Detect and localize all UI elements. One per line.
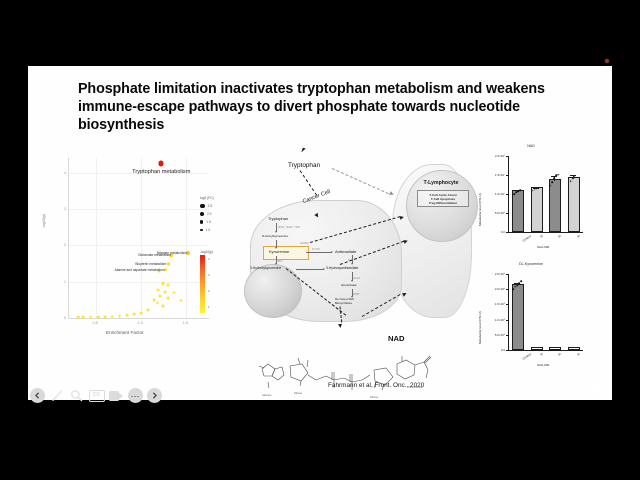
scatter-gridline [69, 282, 209, 283]
bar-y-tick: 2.0×10⁶ [484, 287, 505, 291]
enzyme-ido-tdo: IDO1, IDO2, TDO [278, 225, 300, 229]
video-camera-icon[interactable] [109, 391, 123, 401]
scatter-y-tick: 1 [64, 280, 66, 284]
pathway-arrowhead [351, 263, 353, 265]
back-button[interactable] [30, 388, 45, 403]
bar-category-label: Control [522, 234, 532, 243]
presentation-slide: Phosphate limitation inactivates tryptop… [28, 66, 612, 400]
data-point [552, 181, 554, 183]
forward-button[interactable] [147, 388, 162, 403]
bar-y-axis-label: Metabolite level (PSI.U) [478, 312, 482, 345]
scatter-y-tick: 2 [64, 243, 66, 247]
scatter-point [111, 315, 114, 318]
bar-category-label: Pi [576, 234, 580, 239]
data-point [519, 189, 521, 191]
tryptophan-depletion-arrow [332, 168, 389, 194]
data-point [516, 285, 518, 287]
scatter-color-legend: -log10(p) 4321 [200, 250, 217, 313]
screenshot-root: Phosphate limitation inactivates tryptop… [0, 0, 640, 480]
scatter-point [172, 291, 175, 294]
label-phosphates: Phosphates [324, 399, 338, 400]
data-point [574, 176, 576, 178]
color-legend-title: -log10(p) [200, 250, 217, 254]
pathway-arrowhead [351, 296, 353, 298]
highlighted-pathway-label: Tryptophan metabolism [132, 169, 190, 175]
size-legend-dot [200, 229, 203, 232]
scatter-point [77, 316, 80, 319]
scatter-y-tick: 4 [64, 171, 66, 175]
scatter-point [156, 288, 159, 291]
bar-group-label: SAU-600 [537, 245, 549, 249]
effect-treg: Treg Differentiation [419, 201, 467, 205]
scatter-point [167, 297, 170, 300]
color-legend-ticks: 4321 [207, 255, 217, 313]
scatter-plot-area [68, 158, 209, 319]
data-point [513, 288, 515, 290]
t-lymphocyte-effects-box: T-Cell Cycle Arrest T-Cell Apoptosis Tre… [417, 190, 469, 207]
recording-indicator-dot [605, 59, 609, 63]
bar-y-tickmark [506, 350, 508, 351]
bar-category-label: Pi [539, 234, 543, 239]
bar-y-tick: 1.5×10⁶ [484, 302, 505, 306]
slide-citation: Fahrmann et al, Front. Onc., 2020 [328, 382, 424, 389]
bar-y-tickmark [506, 304, 508, 305]
enzyme-afmid: AFMID [300, 241, 309, 245]
color-legend-tick: 3 [208, 273, 210, 277]
bar-category-label: Control [522, 352, 532, 361]
bar-category-label: Pi [576, 352, 580, 357]
size-legend-row: 1.5 [200, 218, 214, 226]
scatter-x-tick: 1.5 [183, 321, 188, 325]
pen-tool-icon[interactable] [50, 390, 65, 402]
bar-y-tick: 1.0×10⁷ [484, 192, 505, 196]
bar-y-axis-label: Metabolite level (PSI.U) [478, 194, 482, 227]
scatter-point [147, 309, 150, 312]
bar-y-tick: 2.5×10⁶ [484, 272, 505, 276]
pathway-arrow [306, 252, 332, 253]
node-3-hydroxyanthranilate: 3-Hydroxyanthranilate [326, 266, 358, 270]
scatter-y-tick: 0 [64, 316, 66, 320]
bar-y-tick: 5.0×10⁶ [484, 211, 505, 215]
data-point [570, 180, 572, 182]
scatter-x-tick: 1.0 [138, 321, 143, 325]
node-kynurenine: Kynurenine [269, 249, 289, 254]
bar-category-label: Pi [558, 234, 562, 239]
bar-y-tick: 1.5×10⁷ [484, 173, 505, 177]
bar [531, 187, 543, 232]
nad-down-arrowhead [338, 324, 342, 328]
bar [512, 284, 524, 350]
scatter-size-legend: log2 (FC) 2.52.01.51.0 [200, 196, 214, 234]
color-legend-tick: 1 [208, 305, 210, 309]
bar-y-tick: 0.0 [484, 348, 505, 352]
video-player-toolbar[interactable]: CC ⋯ [30, 388, 162, 403]
bar-category-label: Pi [539, 352, 543, 357]
bar [549, 179, 561, 232]
scatter-gridline [69, 245, 209, 246]
scatter-y-axis-label: -log10(p) [42, 214, 46, 228]
size-legend-title: log2 (FC) [200, 196, 214, 200]
size-legend-dot [200, 220, 203, 223]
closed-captions-icon[interactable]: CC [89, 390, 105, 402]
scatter-point [180, 299, 183, 302]
node-anthranilate: Anthranilate [335, 249, 356, 254]
pathway-arrowhead [323, 268, 325, 270]
pathway-label: Glutamate metabolism [138, 253, 171, 257]
enzyme-kmo: KMO [276, 259, 282, 263]
scatter-point [161, 282, 164, 285]
scatter-point [163, 290, 166, 293]
bar-category-label: Pi [558, 352, 562, 357]
bar-y-tickmark [506, 289, 508, 290]
watermark-text: ereminn [539, 371, 606, 396]
size-legend-dot [200, 212, 204, 216]
bar-y-tickmark [506, 320, 508, 321]
data-point [557, 349, 559, 351]
pathway-arrowhead [275, 231, 277, 233]
tryptophan-pathway-diagram: Tryptophan Cancer Cell T-Lymphocyte T-Ce… [240, 146, 468, 376]
node-3-hydroxykynurenine: 3-Hydroxykynurenine [250, 266, 281, 270]
size-legend-dot [200, 204, 205, 209]
t-lymphocyte-label: T-Lymphocyte [412, 180, 470, 186]
nad-chart-title: NAD [466, 144, 596, 148]
node-tryptophan: Tryptophan [268, 216, 288, 221]
scatter-x-tick: 0.5 [92, 321, 97, 325]
bar [512, 190, 524, 232]
bar-y-tickmark [506, 194, 508, 195]
data-point [520, 280, 522, 282]
scatter-gridline [96, 158, 97, 318]
size-legend-value: 2.0 [207, 212, 211, 216]
data-point [518, 282, 520, 284]
depletion-arrowhead [389, 191, 394, 196]
scatter-point [140, 312, 143, 315]
nad-chemical-structure: Adenine Ribose Phosphates Ribose Nicotin… [254, 342, 454, 400]
bar-y-tick: 0.0 [484, 230, 505, 234]
size-legend-row: 2.0 [200, 210, 214, 218]
cancer-cell-nucleus [244, 264, 302, 318]
pathway-arrowhead [275, 247, 277, 249]
size-legend-row: 2.5 [200, 202, 214, 210]
bar-y-tick: 1.0×10⁶ [484, 318, 505, 322]
pathway-arrowhead [351, 280, 353, 282]
scatter-point [159, 295, 162, 298]
scatter-gridline [69, 209, 209, 210]
scatter-gridline [186, 158, 187, 318]
bar-y-tickmark [506, 232, 508, 233]
scatter-gridline [141, 158, 142, 318]
label-adenine: Adenine [262, 393, 272, 397]
pathway-arrow [296, 269, 324, 270]
scatter-point [82, 316, 85, 319]
scatter-point [125, 314, 128, 317]
data-point [574, 349, 576, 351]
nad-structure-svg: Adenine Ribose Phosphates Ribose Nicotin… [254, 342, 454, 400]
color-legend-tick: 4 [208, 257, 210, 261]
bar-y-tickmark [506, 156, 508, 157]
pathway-enrichment-scatter: -log10(p) Enrichment Factor 012340.51.01… [40, 150, 240, 350]
size-legend-value: 2.5 [208, 204, 212, 208]
scatter-y-tick: 3 [64, 207, 66, 211]
pathway-label: Alanine and aspartate metabolism [115, 268, 165, 272]
kynurenine-bar-chart: DL-Kynurenine ControlPiPiPi2.5×10⁶2.0×10… [466, 262, 596, 378]
scatter-x-axis-label: Enrichment Factor [106, 330, 144, 335]
node-de-novo-nad-biosynthesis: De Novo NAD Biosynthesis [335, 298, 369, 305]
data-point [539, 349, 541, 351]
extracellular-tryptophan-label: Tryptophan [288, 162, 320, 169]
scatter-point [161, 304, 164, 307]
color-legend-tick: 2 [208, 289, 210, 293]
enzyme-qprt: QPRT [352, 292, 360, 296]
data-point [514, 193, 516, 195]
data-point [550, 185, 552, 187]
enzyme-kynu: KYNU [312, 247, 320, 251]
mouse-cursor-arrow [301, 148, 305, 154]
bar [568, 177, 580, 232]
bar-y-tick: 2.0×10⁷ [484, 154, 505, 158]
pathway-label: Biopterin metabolism [135, 262, 166, 266]
nad-bar-chart: NAD ControlPiPiPi2.0×10⁷1.5×10⁷1.0×10⁷5.… [466, 144, 596, 260]
scatter-point [133, 313, 136, 316]
scatter-point [167, 263, 170, 266]
node-quinolinate: Quinolinate [341, 283, 357, 287]
kynurenine-chart-title: DL-Kynurenine [466, 262, 596, 266]
data-point [557, 174, 559, 176]
scatter-point [97, 316, 100, 319]
scatter-point [118, 315, 121, 318]
data-point [553, 177, 555, 179]
pathway-arrowhead [331, 251, 333, 253]
bar-y-tickmark [506, 274, 508, 275]
bar-y-tickmark [506, 335, 508, 336]
size-legend-value: 1.5 [206, 220, 210, 224]
scatter-point [152, 298, 155, 301]
slide-title: Phosphate limitation inactivates tryptop… [78, 80, 576, 134]
label-ribose-2: Ribose [370, 395, 379, 399]
label-ribose-1: Ribose [294, 391, 303, 395]
scatter-point [104, 316, 107, 319]
scatter-point [89, 316, 92, 319]
bar-y-tickmark [506, 175, 508, 176]
scatter-point [159, 161, 164, 166]
more-options-icon[interactable]: ⋯ [128, 388, 143, 403]
node-n-formylkynurenine: N-formylkynurenine [262, 234, 288, 238]
transport-arrow-uptake [300, 170, 318, 195]
size-legend-row: 1.0 [200, 226, 214, 234]
bar-group-label: SAU-600 [537, 363, 549, 367]
pathway-arrowhead [275, 263, 277, 265]
scatter-point [156, 302, 159, 305]
bar-y-tickmark [506, 213, 508, 214]
bar-y-tick: 5.0×10⁵ [484, 333, 505, 337]
enzyme-haao: HAAO [352, 276, 360, 280]
data-point [572, 178, 574, 180]
scatter-point [167, 284, 170, 287]
size-legend-value: 1.0 [206, 228, 210, 232]
color-legend-gradient-bar [200, 255, 205, 313]
search-zoom-icon[interactable] [69, 390, 84, 402]
data-point [538, 187, 540, 189]
